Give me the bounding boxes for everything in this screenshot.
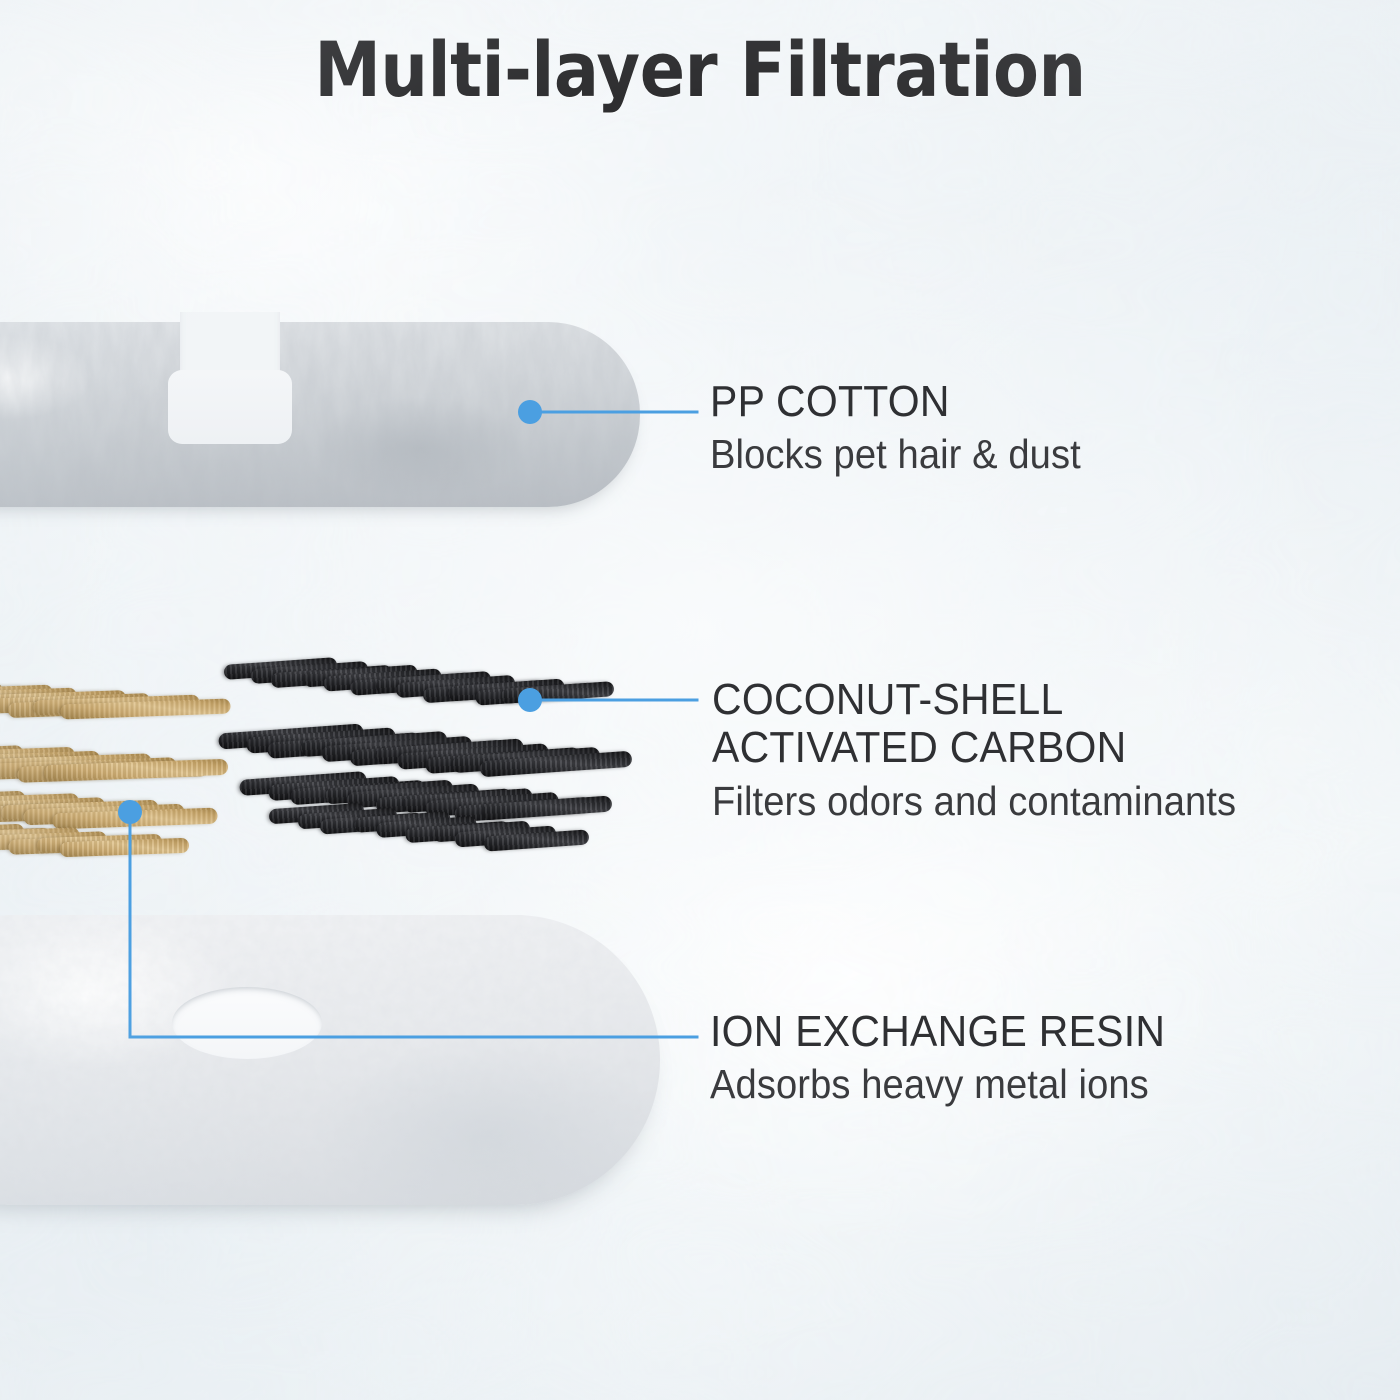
background-vignette: [0, 0, 1400, 1400]
infographic-canvas: Multi-layer Filtration PP COTTON Blocks …: [0, 0, 1400, 1400]
